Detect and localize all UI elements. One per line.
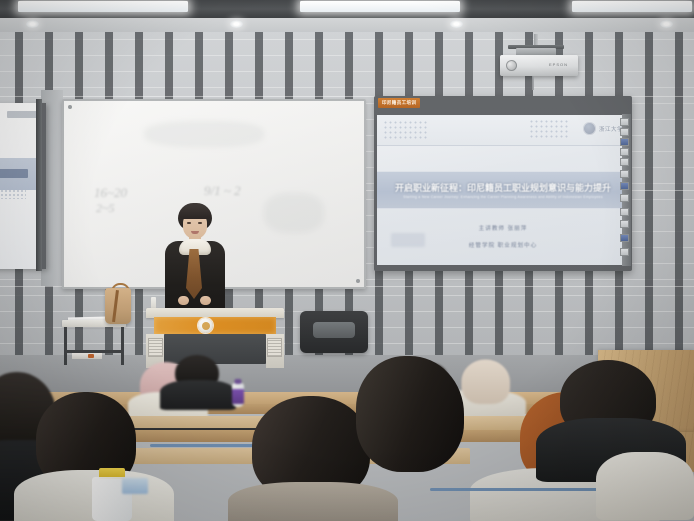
office-chair-icon — [300, 311, 368, 365]
slide-surface: 浙江大学 开启职业新征程：印尼籍员工职业规划意识与能力提升 Starting a… — [377, 115, 629, 265]
rail-key-2 — [620, 128, 629, 136]
rail-key-9 — [620, 208, 629, 216]
bottle-blue-label-wrap — [122, 478, 148, 494]
speaker-presenter — [160, 203, 230, 323]
downlight-2 — [230, 20, 243, 28]
ceiling-strip-light-2 — [300, 1, 460, 12]
bottle-purple-label — [232, 379, 244, 407]
bottle-purple-label-wrap — [232, 389, 244, 404]
podium — [146, 308, 284, 370]
ceiling-strip-light-3 — [572, 1, 692, 12]
projector-lens-icon — [506, 60, 517, 71]
rail-key-8 — [620, 194, 629, 202]
podium-grille-left — [148, 338, 163, 357]
university-seal-icon — [583, 122, 596, 135]
speaker-hand-left — [178, 296, 189, 305]
side-table-shelf-marker — [88, 354, 94, 358]
whiteboard-smudge-1 — [144, 121, 264, 147]
side-table-shelf-item — [72, 353, 102, 359]
podium-grille-right — [267, 338, 282, 357]
whiteboard-corner-tl — [68, 105, 72, 109]
ceiling-projector-icon: EPSON — [500, 55, 578, 76]
handbag-strap — [112, 290, 118, 322]
downlight-3 — [450, 20, 463, 28]
screen-side-rail — [622, 114, 631, 266]
rail-key-6 — [620, 170, 629, 178]
bottle-yellow-cap — [92, 468, 132, 521]
handbag-icon — [105, 288, 131, 324]
rail-key-7 — [620, 182, 629, 190]
secondary-screen-dotfield — [0, 189, 26, 199]
office-chair-back — [300, 311, 368, 353]
speaker-eye-left — [187, 222, 191, 224]
attendee-foreground-right — [356, 356, 464, 472]
slide-title-band: 开启职业新征程：印尼籍员工职业规划意识与能力提升 Starting a New … — [377, 171, 629, 209]
rail-key-10 — [620, 220, 629, 228]
side-table-leg-right — [121, 327, 124, 365]
whiteboard-smudge-2 — [264, 193, 324, 233]
side-table-leg-left — [64, 327, 67, 365]
ceiling-strip-light-1 — [18, 1, 188, 12]
speaker-mouth — [191, 231, 199, 234]
slide-dotfield-left — [383, 120, 429, 140]
downlight-4 — [660, 20, 673, 28]
attendee-black-jacket-torso — [160, 380, 236, 410]
slide-presenter-line: 主讲教师 张丽萍 — [479, 224, 528, 232]
projector-brand-label: EPSON — [549, 62, 568, 67]
speaker-eye-right — [198, 222, 202, 224]
university-emblem-icon — [198, 318, 213, 333]
rail-key-1 — [620, 118, 629, 126]
side-table-icon — [62, 320, 126, 366]
attendee-foreground-center-torso — [228, 482, 398, 521]
whiteboard-note-right: 9/1 ~ 2 — [204, 183, 241, 199]
speaker-fringe — [179, 208, 211, 219]
bottle-purple-cap — [235, 379, 242, 384]
rail-key-3 — [620, 138, 629, 146]
downlight-1 — [26, 20, 39, 28]
slide-affiliation-line: 经管学院 职业规划中心 — [469, 241, 538, 249]
projector-cable — [532, 76, 534, 90]
attendee-right-sleeve — [596, 452, 694, 520]
whiteboard-corner-br — [356, 279, 360, 283]
podium-front-face — [164, 334, 266, 364]
whiteboard-note-left2: 2~5 — [96, 201, 115, 216]
slide-dotfield-right — [529, 119, 569, 139]
rail-key-4 — [620, 148, 629, 156]
secondary-screen-logo-icon — [7, 111, 37, 118]
whiteboard-note-left: 16~20 — [94, 185, 127, 201]
bottle-blue-label — [122, 478, 148, 494]
slide-university-logo: 浙江大学 — [583, 122, 623, 135]
main-projection-screen: 印尼籍员工培训 浙江大学 开启职业新征程：印尼籍员工职业规划意识与能力提升 St… — [374, 96, 632, 271]
slide-subtitle: Starting a New Career Journey: Enhancing… — [403, 195, 603, 199]
slide-tab-label: 印尼籍员工培训 — [378, 98, 420, 108]
lecture-hall-photo: 16~20 2~5 9/1 ~ 2 EPSON 印尼籍员工培训 浙江大学 开启职… — [0, 0, 694, 521]
secondary-screen-frame-edge — [36, 99, 42, 271]
rail-key-5 — [620, 158, 629, 166]
slide-title: 开启职业新征程：印尼籍员工职业规划意识与能力提升 — [395, 181, 611, 194]
secondary-screen-title — [0, 169, 28, 178]
office-chair-pad — [313, 322, 355, 338]
podium-banner — [154, 317, 276, 334]
speaker-hand-right — [200, 296, 211, 305]
rail-key-11 — [620, 234, 629, 242]
attendee-tan-hijab-mid — [462, 360, 510, 404]
rail-key-12 — [620, 248, 629, 256]
slide-body: 主讲教师 张丽萍 经管学院 职业规划中心 — [377, 215, 629, 265]
